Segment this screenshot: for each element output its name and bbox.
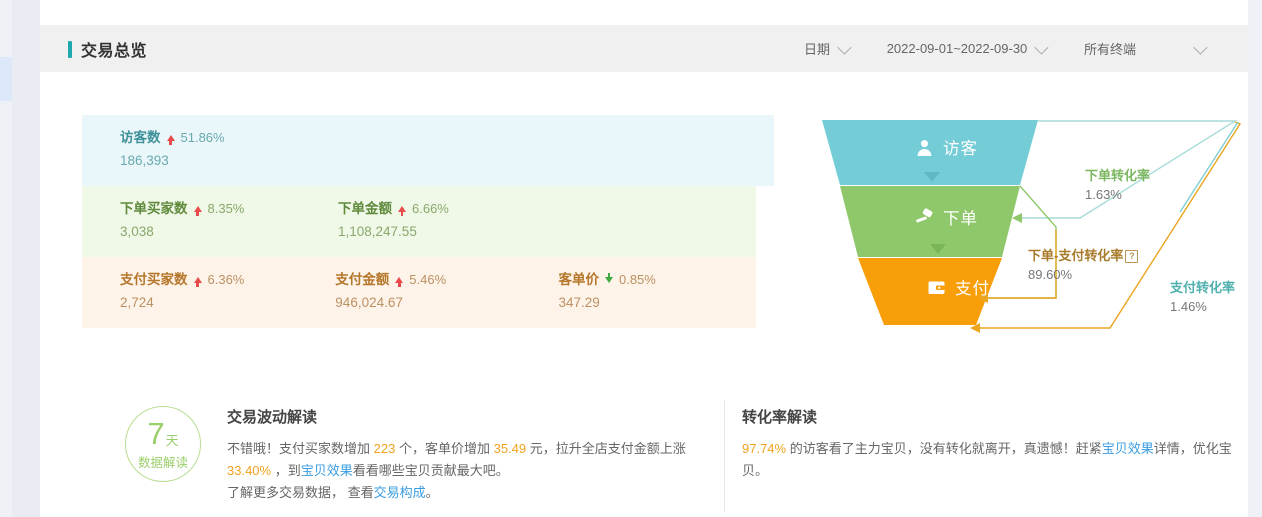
section-title: 转化率解读 <box>742 406 1242 427</box>
section-title: 交易波动解读 <box>227 406 697 427</box>
conversion-pay-rate: 支付转化率 1.46% <box>1170 278 1235 316</box>
text-fragment: 看看哪些宝贝贡献最大吧。 <box>353 463 509 478</box>
metric-delta: 8.35% <box>208 200 245 218</box>
section-body: 不错哦！支付买家数增加 223 个，客单价增加 35.49 元，拉升全店支付金额… <box>227 438 697 504</box>
chevron-down-icon <box>837 40 851 54</box>
metric-label: 客单价 <box>558 271 599 289</box>
wallet-icon <box>927 278 946 297</box>
funnel-label-text: 支付 <box>955 275 990 299</box>
chevron-down-icon <box>1193 40 1207 54</box>
metric-order-amount[interactable]: 下单金额 6.66% 1,108,247.55 <box>338 200 564 241</box>
user-icon <box>915 138 934 157</box>
order-conversion-arrowhead <box>1012 213 1022 223</box>
funnel-label-payments: 支付 <box>927 275 990 299</box>
highlight-bounce-rate: 97.74% <box>742 441 786 456</box>
trend-up-icon <box>194 277 202 283</box>
title-accent-bar <box>68 41 72 58</box>
metric-visitors[interactable]: 访客数 51.86% 186,393 <box>120 129 338 170</box>
metric-label: 支付金额 <box>335 271 389 289</box>
date-type-dropdown[interactable]: 日期 <box>790 25 862 72</box>
card-header: 交易总览 日期 2022-09-01~2022-09-30 所有终端 <box>40 25 1248 72</box>
interpretation-panel: 7 天 数据解读 交易波动解读 不错哦！支付买家数增加 223 个，客单价增加 … <box>82 392 1252 517</box>
trend-up-icon <box>398 206 406 212</box>
link-item-effect[interactable]: 宝贝效果 <box>1102 441 1154 456</box>
metric-order-buyers[interactable]: 下单买家数 8.35% 3,038 <box>120 200 338 241</box>
funnel-label-text: 访客 <box>943 135 978 159</box>
metric-pay-amount[interactable]: 支付金额 5.46% 946,024.67 <box>335 271 558 312</box>
chevron-down-icon <box>1035 40 1049 54</box>
seven-day-badge: 7 天 数据解读 <box>125 406 201 482</box>
terminal-dropdown[interactable]: 所有终端 <box>1070 25 1218 72</box>
conversion-value: 1.63% <box>1085 185 1150 204</box>
metric-avg-order-value[interactable]: 客单价 0.85% 347.29 <box>558 271 756 312</box>
trend-up-icon <box>395 277 403 283</box>
gavel-icon <box>915 208 934 227</box>
text-fragment: 不错哦！支付买家数增加 <box>227 441 370 456</box>
metric-label: 支付买家数 <box>120 271 188 289</box>
page-title: 交易总览 <box>81 37 147 61</box>
funnel-label-visitors: 访客 <box>915 135 978 159</box>
left-gutter <box>12 0 40 517</box>
metric-value: 1,108,247.55 <box>338 223 564 241</box>
link-transaction-composition[interactable]: 交易构成 <box>374 485 426 500</box>
metric-value: 347.29 <box>558 294 756 312</box>
text-fragment: 。 <box>426 485 439 500</box>
left-rail <box>0 0 12 517</box>
header-controls: 日期 2022-09-01~2022-09-30 所有终端 <box>790 25 1218 72</box>
transaction-fluctuation-section: 交易波动解读 不错哦！支付买家数增加 223 个，客单价增加 35.49 元，拉… <box>227 406 697 504</box>
metric-delta: 5.46% <box>409 271 446 289</box>
terminal-value: 所有终端 <box>1084 39 1136 58</box>
metrics-panel: 访客数 51.86% 186,393 下单买家数 8.35% <box>82 115 756 328</box>
text-fragment: 了解更多交易数据， <box>227 485 344 500</box>
page-title-wrap: 交易总览 <box>68 37 147 61</box>
conversion-title: 支付转化率 <box>1170 278 1235 297</box>
conversion-order-rate: 下单转化率 1.63% <box>1085 166 1150 204</box>
help-icon[interactable]: ? <box>1125 250 1138 263</box>
text-fragment: 的访客看了主力宝贝，没有转化就离开，真遗憾！赶紧 <box>790 441 1102 456</box>
metrics-row-visitors: 访客数 51.86% 186,393 <box>82 115 774 186</box>
section-body: 97.74% 的访客看了主力宝贝，没有转化就离开，真遗憾！赶紧宝贝效果详情，优化… <box>742 438 1242 482</box>
date-type-label: 日期 <box>804 39 830 58</box>
metric-value: 3,038 <box>120 223 338 241</box>
metric-delta: 6.36% <box>208 271 245 289</box>
badge-unit: 天 <box>166 434 179 447</box>
funnel-label-orders: 下单 <box>915 205 978 229</box>
conversion-title-text: 下单-支付转化率 <box>1028 248 1123 263</box>
metric-delta: 6.66% <box>412 200 449 218</box>
date-range-value: 2022-09-01~2022-09-30 <box>887 41 1028 56</box>
left-rail-tab[interactable] <box>0 57 12 101</box>
highlight-amount-delta: 33.40% <box>227 463 271 478</box>
conversion-value: 1.46% <box>1170 297 1235 316</box>
conversion-title: 下单转化率 <box>1085 166 1150 185</box>
metric-label: 下单买家数 <box>120 200 188 218</box>
metric-value: 186,393 <box>120 152 338 170</box>
conversion-value: 89.60% <box>1028 265 1138 284</box>
transaction-overview-card: 交易总览 日期 2022-09-01~2022-09-30 所有终端 <box>40 0 1248 517</box>
link-item-effect[interactable]: 宝贝效果 <box>301 463 353 478</box>
conversion-interpretation-section: 转化率解读 97.74% 的访客看了主力宝贝，没有转化就离开，真遗憾！赶紧宝贝效… <box>742 406 1242 482</box>
section-divider <box>724 400 725 512</box>
funnel-label-text: 下单 <box>943 205 978 229</box>
highlight-price-delta: 35.49 <box>494 441 527 456</box>
metric-label: 访客数 <box>120 129 161 147</box>
metrics-row-orders: 下单买家数 8.35% 3,038 下单金额 6.66% 1,108,247.5… <box>82 186 756 257</box>
trend-up-icon <box>194 206 202 212</box>
text-fragment: ，到 <box>275 463 301 478</box>
trend-down-icon <box>605 277 613 283</box>
page-root: 交易总览 日期 2022-09-01~2022-09-30 所有终端 <box>0 0 1262 517</box>
badge-subtitle: 数据解读 <box>138 452 188 471</box>
conversion-order-to-pay-rate: 下单-支付转化率? 89.60% <box>1028 246 1138 284</box>
metric-delta: 0.85% <box>619 271 656 289</box>
metric-value: 2,724 <box>120 294 335 312</box>
pay-conversion-connector-top <box>1180 122 1238 212</box>
badge-number: 7 <box>147 418 164 449</box>
highlight-buyers-delta: 223 <box>374 441 396 456</box>
metric-pay-buyers[interactable]: 支付买家数 6.36% 2,724 <box>120 271 335 312</box>
date-range-picker[interactable]: 2022-09-01~2022-09-30 <box>862 25 1070 72</box>
metric-value: 946,024.67 <box>335 294 558 312</box>
conversion-funnel: 访客 下单 支付 下单转化率 1.63% 下单-支付转化率? 89.60% <box>780 100 1262 350</box>
metric-label: 下单金额 <box>338 200 392 218</box>
badge-top: 7 天 <box>147 418 178 449</box>
metric-delta: 51.86% <box>181 129 225 147</box>
trend-up-icon <box>167 135 175 141</box>
text-fragment: 个，客单价增加 <box>399 441 490 456</box>
conversion-title: 下单-支付转化率? <box>1028 246 1138 265</box>
text-fragment: 查看 <box>348 485 374 500</box>
metrics-row-payments: 支付买家数 6.36% 2,724 支付金额 5.46% 946,024.67 <box>82 257 756 328</box>
text-fragment: 元，拉升全店支付金额上涨 <box>530 441 686 456</box>
